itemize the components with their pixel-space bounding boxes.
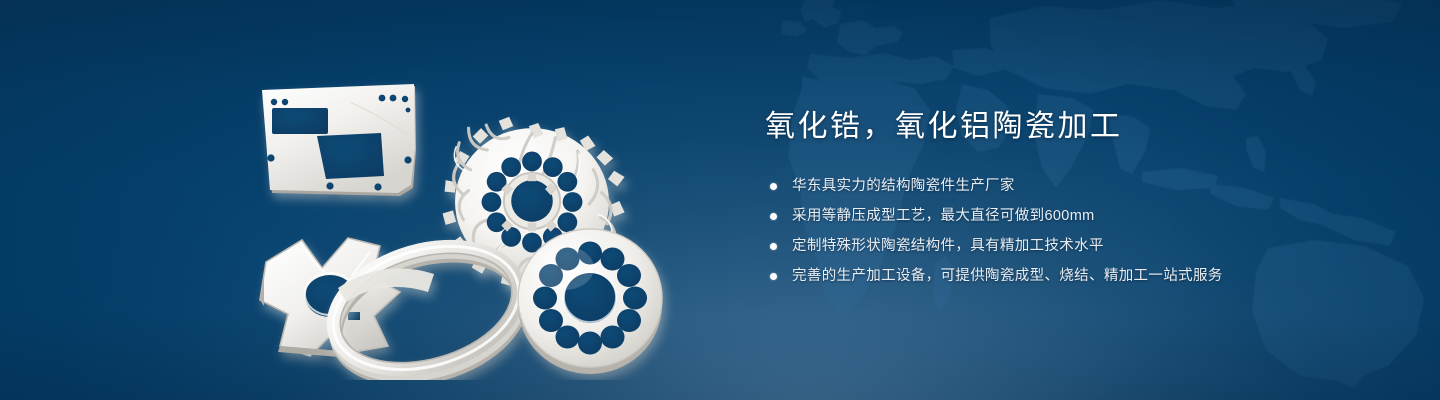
list-item-label: 完善的生产加工设备，可提供陶瓷成型、烧结、精加工一站式服务 (792, 268, 1223, 284)
bullet-dot-icon (770, 183, 777, 190)
bullet-dot-icon (770, 273, 777, 280)
feature-list: 华东具实力的结构陶瓷件生产厂家 采用等静压成型工艺，最大直径可做到600mm 定… (765, 176, 1385, 287)
bullet-dot-icon (770, 213, 777, 220)
page-title: 氧化锆，氧化铝陶瓷加工 (765, 108, 1385, 146)
list-item: 采用等静压成型工艺，最大直径可做到600mm (770, 206, 1385, 227)
banner-copy: 氧化锆，氧化铝陶瓷加工 华东具实力的结构陶瓷件生产厂家 采用等静压成型工艺，最大… (765, 108, 1385, 296)
list-item: 完善的生产加工设备，可提供陶瓷成型、烧结、精加工一站式服务 (770, 266, 1385, 287)
ceramic-parts-photo (230, 40, 700, 380)
list-item: 华东具实力的结构陶瓷件生产厂家 (770, 176, 1385, 197)
list-item-label: 采用等静压成型工艺，最大直径可做到600mm (792, 208, 1095, 224)
ceramic-perforated-disc (518, 229, 662, 374)
list-item: 定制特殊形状陶瓷结构件，具有精加工技术水平 (770, 236, 1385, 257)
bullet-dot-icon (770, 243, 777, 250)
list-item-label: 华东具实力的结构陶瓷件生产厂家 (792, 178, 1015, 194)
ceramic-mounting-plate (262, 84, 416, 196)
hero-banner: 氧化锆，氧化铝陶瓷加工 华东具实力的结构陶瓷件生产厂家 采用等静压成型工艺，最大… (0, 0, 1440, 400)
list-item-label: 定制特殊形状陶瓷结构件，具有精加工技术水平 (792, 238, 1104, 254)
